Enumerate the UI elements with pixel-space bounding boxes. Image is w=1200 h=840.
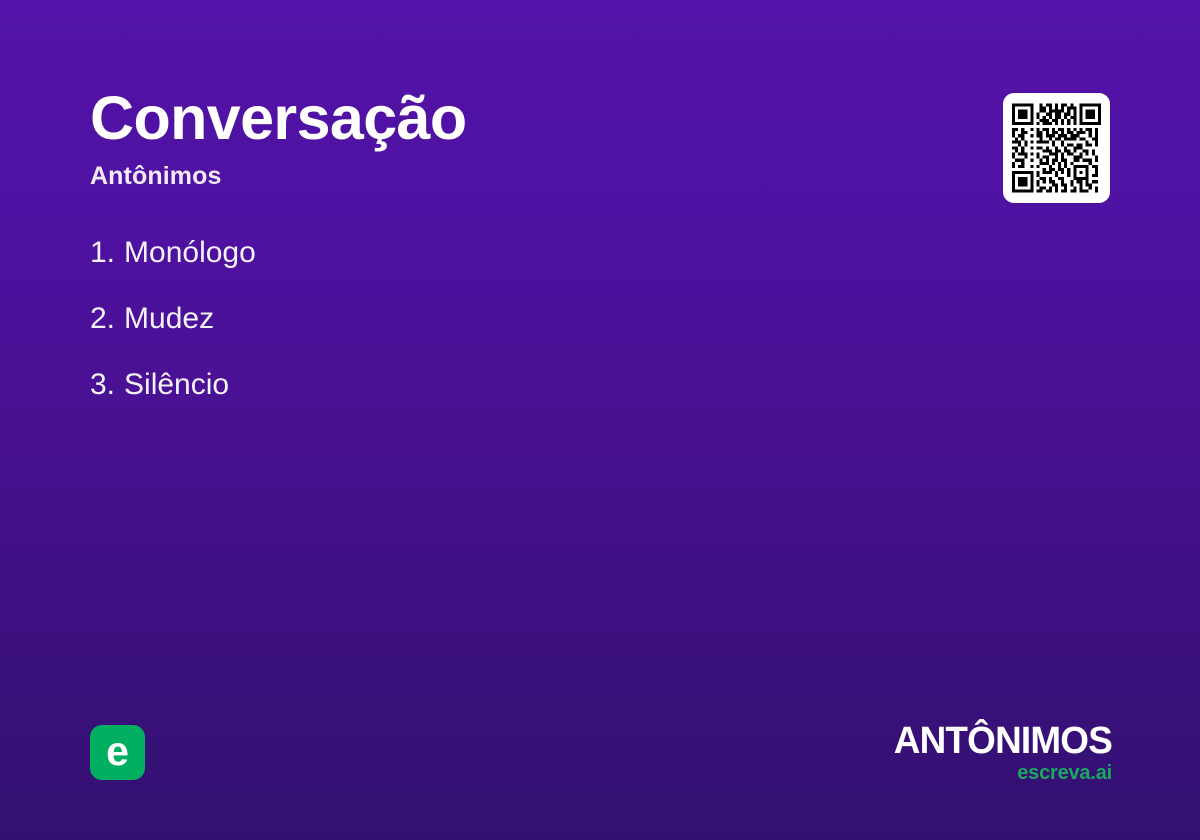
- footer-logo-title: ANTÔNIMOS: [894, 722, 1112, 760]
- word-list: 1.Monólogo 2.Mudez 3.Silêncio: [90, 238, 256, 436]
- list-item-index: 1.: [90, 236, 115, 269]
- list-item-index: 3.: [90, 368, 115, 401]
- qr-code-card[interactable]: [1003, 93, 1110, 203]
- list-item: 1.Monólogo: [90, 238, 256, 268]
- list-item-word: Monólogo: [124, 236, 256, 269]
- page-title: Conversação: [90, 88, 467, 149]
- list-item-word: Silêncio: [124, 368, 229, 401]
- escreva-e-badge-icon[interactable]: e: [90, 725, 145, 780]
- list-item-word: Mudez: [124, 302, 214, 335]
- list-item: 3.Silêncio: [90, 370, 256, 400]
- qr-code-icon: [1012, 102, 1101, 194]
- footer-logo-subtitle: escreva.ai: [887, 763, 1112, 783]
- footer-logo: ANTÔNIMOS escreva.ai: [887, 722, 1112, 783]
- list-item-index: 2.: [90, 302, 115, 335]
- brand-badge-letter: e: [106, 731, 129, 772]
- slide-header: Conversação Antônimos: [90, 88, 467, 189]
- list-item: 2.Mudez: [90, 304, 256, 334]
- page-subtitle: Antônimos: [90, 164, 467, 189]
- slide-canvas: Conversação Antônimos 1.Monólogo 2.Mudez…: [0, 0, 1200, 840]
